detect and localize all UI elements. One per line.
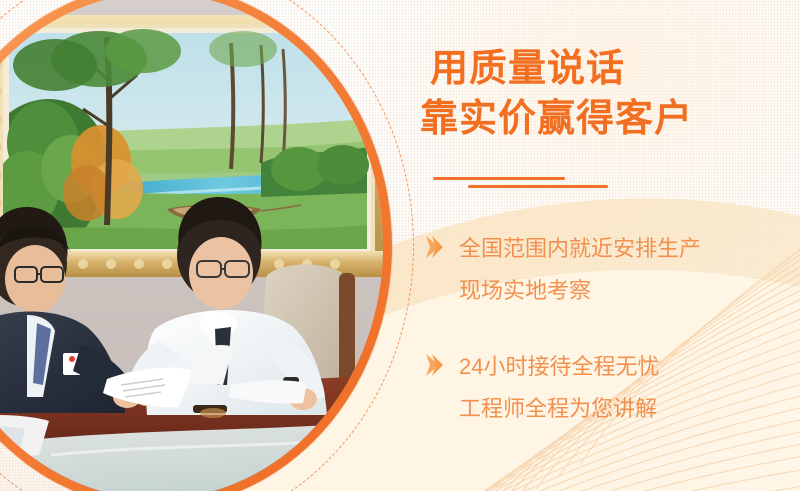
bullet-list: 全国范围内就近安排生产 现场实地考察 24小时接待全程无忧 工程师全程为您讲解 [423, 228, 800, 464]
bullet-1-line-2: 现场实地考察 [459, 270, 701, 312]
chevron-right-arrow-icon [423, 234, 445, 260]
bullet-1-line-1: 全国范围内就近安排生产 [459, 228, 701, 270]
headline-line-1: 用质量说话 [430, 44, 800, 94]
divider-line-top [433, 177, 565, 180]
headline-block: 用质量说话 靠实价赢得客户 [415, 44, 800, 144]
content-column: 用质量说话 靠实价赢得客户 全国范围内就近安排生产 现场实地考察 [415, 0, 800, 491]
bullet-2-line-2: 工程师全程为您讲解 [459, 388, 659, 430]
chevron-right-arrow-icon [423, 352, 445, 378]
headline-divider [433, 174, 693, 196]
bullet-text-1: 全国范围内就近安排生产 现场实地考察 [459, 228, 701, 312]
bullet-2-line-1: 24小时接待全程无忧 [459, 346, 659, 388]
promo-banner: 用质量说话 靠实价赢得客户 全国范围内就近安排生产 现场实地考察 [0, 0, 800, 491]
bullet-item-2: 24小时接待全程无忧 工程师全程为您讲解 [423, 346, 800, 430]
bullet-item-1: 全国范围内就近安排生产 现场实地考察 [423, 228, 800, 312]
headline-line-2: 靠实价赢得客户 [420, 94, 800, 144]
photo-circle [0, 0, 392, 491]
divider-line-bottom [468, 185, 608, 188]
bullet-text-2: 24小时接待全程无忧 工程师全程为您讲解 [459, 346, 659, 430]
